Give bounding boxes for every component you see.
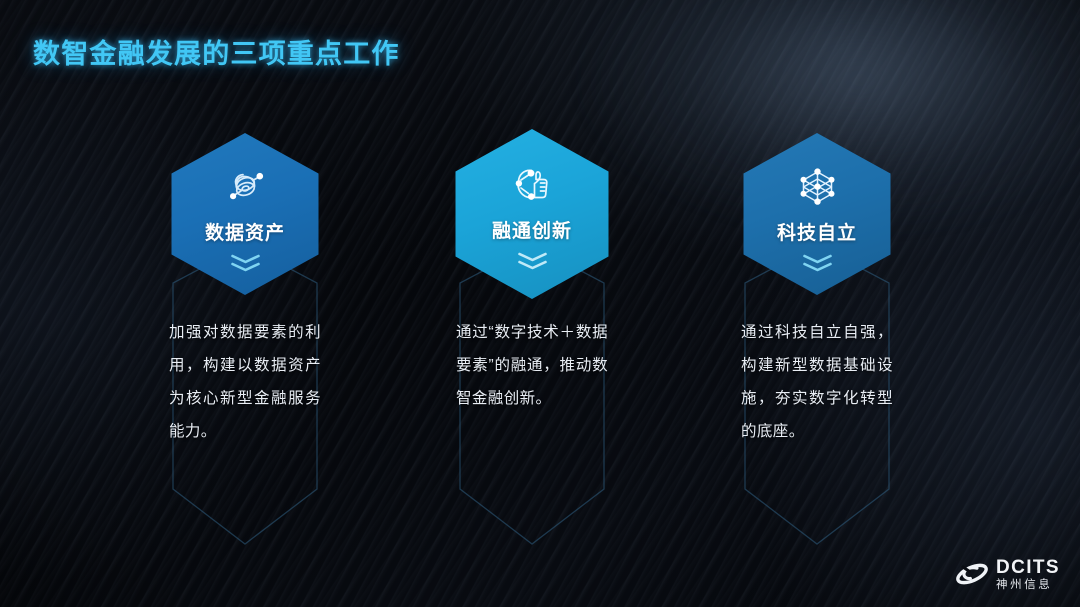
topic-description: 加强对数据要素的利用，构建以数据资产为核心新型金融服务能力。 [169, 316, 321, 448]
logo-text-block: DCITS 神州信息 [996, 558, 1060, 592]
hexagon-label: 融通创新 [492, 216, 572, 243]
logo-name-cn: 神州信息 [996, 580, 1060, 592]
dcits-swirl-logo-icon [955, 561, 989, 587]
hexagon-label: 数据资产 [205, 218, 285, 245]
chevron-down-icon [228, 254, 262, 272]
presentation-slide: 数智金融发展的三项重点工作 [0, 0, 1080, 607]
hexagon-label: 科技自立 [777, 218, 857, 245]
layered-network-icon [792, 162, 842, 212]
topic-description: 通过“数字技术＋数据要素”的融通，推动数智金融创新。 [456, 316, 608, 415]
thumbs-up-network-icon [507, 160, 557, 210]
company-logo: DCITS 神州信息 [955, 558, 1060, 592]
topic-description: 通过科技自立自强，构建新型数据基础设施，夯实数字化转型的底座。 [741, 316, 893, 448]
data-asset-spiral-icon [220, 162, 270, 212]
page-title: 数智金融发展的三项重点工作 [33, 32, 400, 71]
background-vignette [0, 0, 1080, 607]
chevron-down-icon [515, 252, 549, 270]
logo-name-en: DCITS [996, 558, 1060, 577]
chevron-down-icon [800, 254, 834, 272]
